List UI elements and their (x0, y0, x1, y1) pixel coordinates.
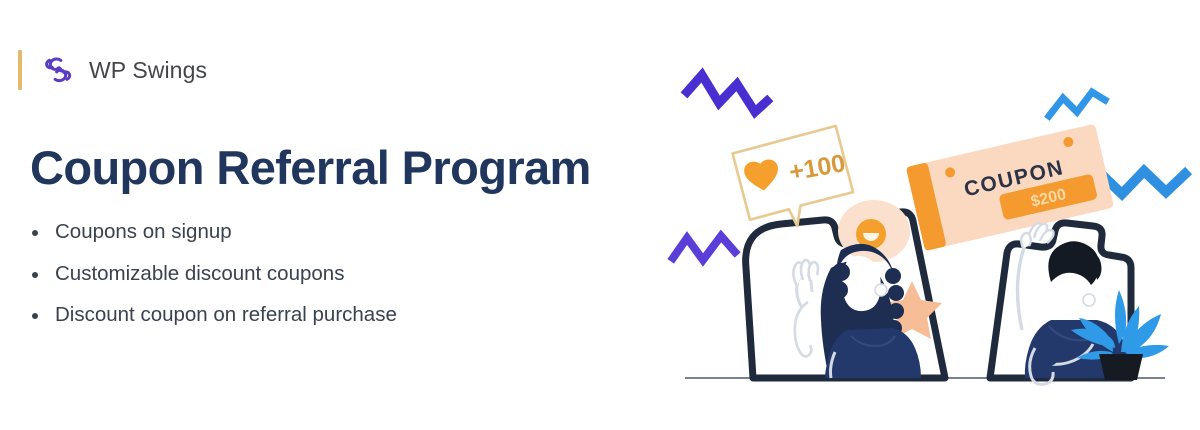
bullet-dot-icon (32, 272, 38, 278)
list-item: Coupons on signup (30, 222, 397, 243)
coupon-referral-illustration: +100 COUPON $200 (645, 0, 1200, 430)
banner-text-column: WP Swings Coupon Referral Program Coupon… (0, 0, 640, 430)
woman-waving (793, 244, 921, 378)
coupon-referral-banner: WP Swings Coupon Referral Program Coupon… (0, 0, 1200, 430)
plant-pot (1099, 354, 1143, 380)
brand-accent-bar (18, 50, 22, 90)
zigzag-blue-top-right-icon (1049, 92, 1105, 116)
bullet-dot-icon (32, 313, 38, 319)
page-title: Coupon Referral Program (30, 141, 591, 195)
brand-name: WP Swings (89, 57, 207, 84)
list-item: Customizable discount coupons (30, 264, 397, 285)
list-item: Discount coupon on referral purchase (30, 305, 397, 326)
brand-lockup[interactable]: WP Swings (18, 48, 207, 92)
zigzag-purple-top-left-icon (687, 75, 767, 112)
list-item-label: Customizable discount coupons (55, 262, 344, 285)
list-item-label: Coupons on signup (55, 220, 232, 243)
coupon-ticket: COUPON $200 (906, 124, 1114, 251)
feature-list: Coupons on signup Customizable discount … (30, 222, 397, 326)
like-badge: +100 (731, 125, 857, 234)
wp-swings-swirl-logo-icon (38, 50, 78, 90)
zigzag-purple-mid-left-icon (673, 236, 735, 260)
bullet-dot-icon (32, 230, 38, 236)
list-item-label: Discount coupon on referral purchase (55, 303, 397, 326)
